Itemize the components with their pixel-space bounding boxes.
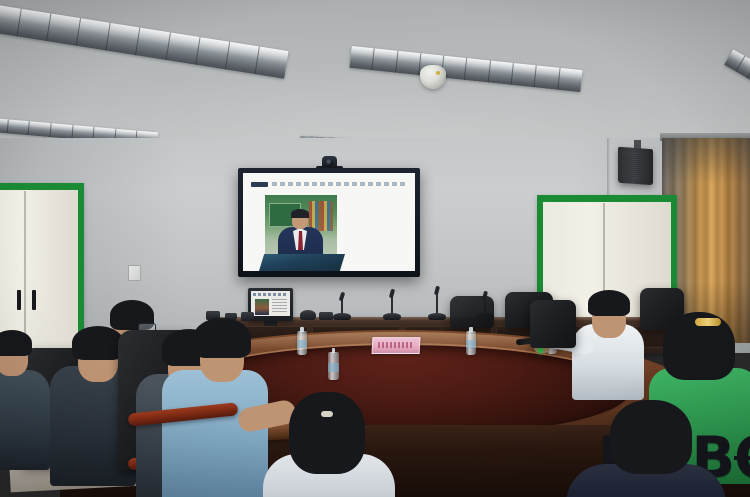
photo-scene: M E B O — [0, 0, 750, 497]
bottle-label — [328, 363, 339, 372]
mic-capsule — [339, 292, 346, 302]
water-bottle[interactable] — [297, 331, 307, 355]
desktop-monitor[interactable] — [248, 288, 293, 321]
water-bottle[interactable] — [328, 352, 339, 380]
attendee-torso — [0, 370, 50, 470]
mic-base — [428, 313, 446, 320]
slide-header-logo — [251, 182, 268, 187]
chair-back[interactable] — [450, 296, 494, 328]
attendee-hair — [610, 400, 692, 474]
mic-gooseneck — [436, 294, 438, 315]
console-device — [241, 312, 254, 321]
presentation-display[interactable] — [238, 168, 420, 277]
slide-header-text — [251, 180, 405, 188]
monitor-screen — [251, 291, 290, 316]
attendee-hair — [289, 392, 365, 474]
chair-back[interactable] — [530, 300, 576, 348]
bottle-label — [466, 340, 476, 348]
attendee-hair — [72, 326, 124, 360]
mic-capsule — [434, 286, 440, 296]
presentation-slide — [243, 173, 415, 271]
video-camera-icon — [322, 156, 337, 168]
bottle-label — [297, 340, 307, 348]
conference-microphone[interactable] — [333, 294, 351, 320]
presenter-hair — [588, 290, 630, 316]
water-bottle[interactable] — [466, 331, 476, 355]
door-handle-icon[interactable] — [32, 290, 36, 310]
table-name-card — [372, 337, 421, 354]
console-device — [300, 310, 316, 320]
monitor-slide-photo — [255, 299, 269, 315]
hair-tie-icon — [321, 411, 333, 417]
wall-speaker — [618, 147, 653, 185]
hair-clip-icon — [695, 318, 721, 326]
attendee-hair — [193, 318, 251, 358]
mic-base — [333, 313, 351, 320]
slide-header-title-line — [272, 182, 405, 186]
monitor-slide-text — [272, 299, 287, 313]
watermark-letter-o: O — [734, 430, 750, 487]
slide-photo-podium — [259, 254, 345, 271]
watermark-o-crossbar — [734, 456, 750, 460]
conference-microphone[interactable] — [383, 292, 401, 320]
mic-capsule — [389, 289, 395, 299]
monitor-header-line — [253, 293, 287, 296]
pointer-laser-dot — [538, 348, 543, 353]
console-device — [319, 312, 333, 320]
slide-photo-speaker-hair — [291, 209, 309, 218]
mic-base — [383, 313, 401, 320]
attendee-hair — [0, 330, 32, 356]
door-handle-icon[interactable] — [17, 290, 21, 310]
light-switch[interactable] — [128, 265, 141, 281]
conference-microphone[interactable] — [428, 290, 446, 320]
attendee-torso — [162, 370, 268, 497]
